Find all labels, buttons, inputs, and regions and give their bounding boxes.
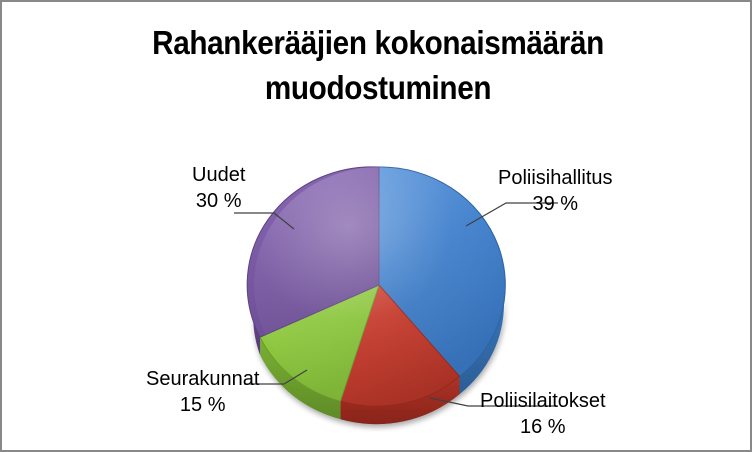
pie-label-seurakunnat: Seurakunnat 15 % [146,366,259,418]
pie-top-faces [247,167,505,406]
chart-frame: Rahankerääjien kokonaismäärän muodostumi… [0,0,752,452]
pie-chart-plot [2,2,752,452]
pie-label-poliisihallitus: Poliisihallitus 39 % [498,165,613,217]
pie-label-poliisilaitokset: Poliisilaitokset 16 % [480,388,606,440]
pie-highlight [254,167,504,403]
pie-label-uudet: Uudet 30 % [192,162,245,214]
